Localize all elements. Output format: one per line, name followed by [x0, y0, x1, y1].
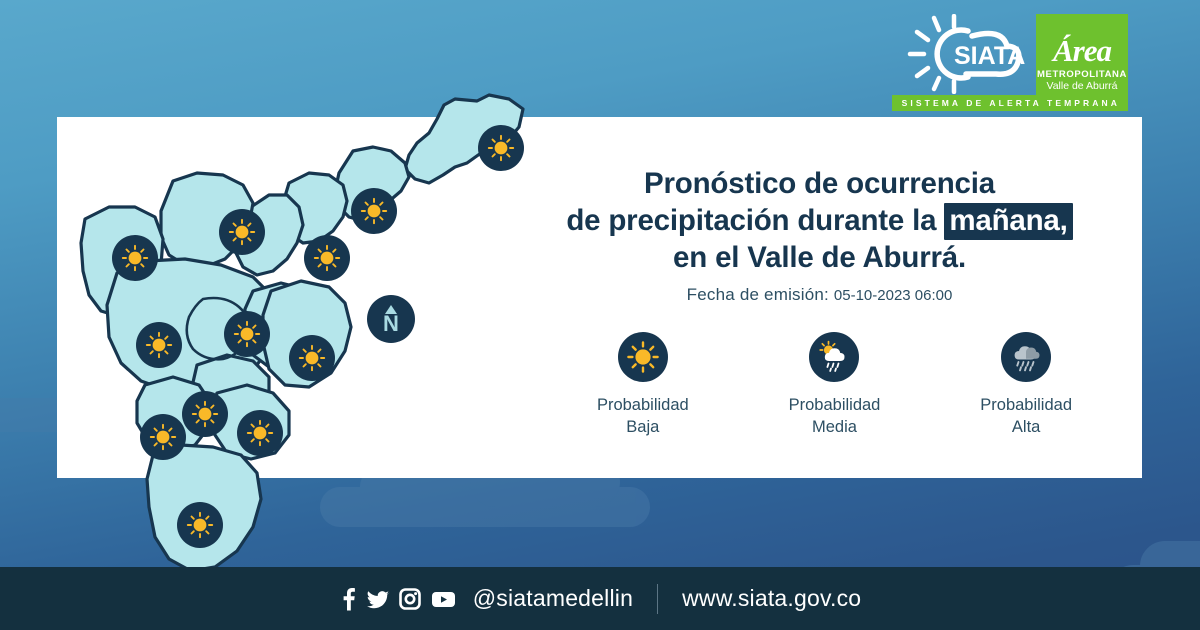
map-marker[interactable]: [136, 322, 182, 368]
sun-icon: [228, 218, 256, 246]
legend-label-line2: Baja: [597, 416, 689, 438]
legend-icon-wrap: [809, 332, 859, 382]
legend-label-line1: Probabilidad: [597, 394, 689, 416]
social-handle[interactable]: @siatamedellin: [473, 585, 633, 612]
title-line-2: de precipitación durante la mañana,: [527, 202, 1112, 239]
map-marker[interactable]: [177, 502, 223, 548]
tagline-banner: SISTEMA DE ALERTA TEMPRANA: [892, 95, 1128, 111]
logo-group: SIATA Área METROPOLITANA Valle de Aburrá: [906, 14, 1128, 96]
emission-date-row: Fecha de emisión: 05-10-2023 06:00: [527, 285, 1112, 305]
siata-wordmark: SIATA: [954, 42, 1025, 70]
footer-bar: @siatamedellin www.siata.gov.co: [0, 567, 1200, 630]
sun-icon: [186, 511, 214, 539]
map-marker[interactable]: [304, 235, 350, 281]
sun-icon: [149, 423, 177, 451]
compass-north-icon: N: [367, 295, 415, 343]
valle-de-aburra-map: N: [57, 55, 527, 555]
sun-icon: [191, 400, 219, 428]
legend-label-baja: Probabilidad Baja: [597, 394, 689, 438]
sun-icon: [360, 197, 388, 225]
area-line1: METROPOLITANA: [1037, 69, 1127, 80]
compass-label: N: [383, 315, 399, 333]
cloud-rain-icon: [1008, 339, 1044, 375]
forecast-content: Pronóstico de ocurrencia de precipitació…: [527, 117, 1142, 478]
legend-item-baja: Probabilidad Baja: [553, 332, 733, 438]
emission-date-value: 05-10-2023 06:00: [834, 287, 952, 304]
instagram-icon[interactable]: [399, 587, 422, 611]
footer-divider: [657, 584, 658, 614]
map-marker[interactable]: [112, 235, 158, 281]
sun-rays-icon: [910, 16, 954, 92]
sun-icon: [145, 331, 173, 359]
main-panel: N Pronóstico de ocurrencia de precipitac…: [57, 117, 1142, 478]
facebook-icon[interactable]: [339, 587, 358, 611]
sun-icon: [313, 244, 341, 272]
legend-label-line1: Probabilidad: [789, 394, 881, 416]
title-line-2-text: de precipitación durante la: [566, 204, 944, 237]
legend-icon-wrap: [618, 332, 668, 382]
map-marker[interactable]: [140, 414, 186, 460]
sun-icon: [626, 340, 660, 374]
map-marker[interactable]: [289, 335, 335, 381]
legend-label-line1: Probabilidad: [980, 394, 1072, 416]
sun-icon: [246, 419, 274, 447]
siata-logo: SIATA: [906, 14, 1026, 94]
page-title: Pronóstico de ocurrencia de precipitació…: [527, 165, 1112, 276]
map-marker[interactable]: [182, 391, 228, 437]
legend-label-line2: Media: [789, 416, 881, 438]
map-marker[interactable]: [219, 209, 265, 255]
legend-item-alta: Probabilidad Alta: [936, 332, 1116, 438]
sun-cloud-rain-icon: [816, 339, 852, 375]
map-marker[interactable]: [224, 311, 270, 357]
area-line2: Valle de Aburrá: [1046, 80, 1117, 92]
sun-icon: [487, 134, 515, 162]
title-highlight-manana: mañana,: [944, 203, 1072, 240]
title-line-1: Pronóstico de ocurrencia: [527, 165, 1112, 202]
sun-icon: [298, 344, 326, 372]
map-marker[interactable]: [478, 125, 524, 171]
title-line-3: en el Valle de Aburrá.: [527, 239, 1112, 276]
legend-label-media: Probabilidad Media: [789, 394, 881, 438]
website-url[interactable]: www.siata.gov.co: [682, 585, 861, 612]
area-metropolitana-logo: Área METROPOLITANA Valle de Aburrá: [1036, 14, 1128, 96]
twitter-icon[interactable]: [367, 587, 390, 611]
youtube-icon[interactable]: [431, 587, 456, 611]
legend-item-media: Probabilidad Media: [744, 332, 924, 438]
map-marker[interactable]: [237, 410, 283, 456]
legend-icon-wrap: [1001, 332, 1051, 382]
sun-icon: [121, 244, 149, 272]
sun-icon: [233, 320, 261, 348]
map-marker[interactable]: [351, 188, 397, 234]
legend-label-line2: Alta: [980, 416, 1072, 438]
area-script-text: Área: [1053, 35, 1111, 67]
social-icons: [339, 587, 456, 611]
emission-label: Fecha de emisión:: [687, 285, 829, 304]
probability-legend: Probabilidad Baja: [547, 332, 1122, 438]
legend-label-alta: Probabilidad Alta: [980, 394, 1072, 438]
